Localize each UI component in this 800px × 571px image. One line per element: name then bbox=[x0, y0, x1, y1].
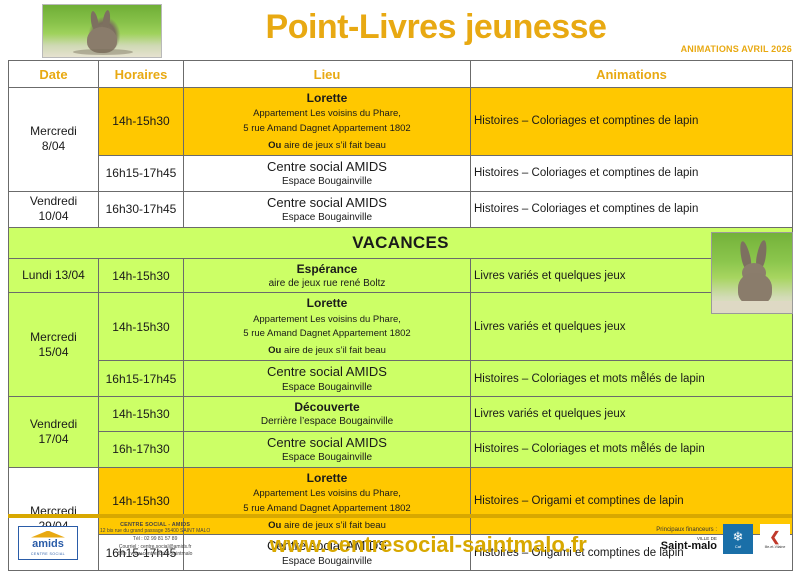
snowflake-icon: ❄ bbox=[733, 530, 744, 543]
lieu-name: Centre social AMIDS bbox=[187, 158, 467, 176]
table-row: Vendredi17/0414h-15h30DécouverteDerrière… bbox=[9, 397, 793, 432]
cell-date: Mercredi8/04 bbox=[9, 88, 99, 192]
vacances-row: VACANCES bbox=[9, 227, 793, 258]
cell-animations: Histoires – Coloriages et comptines de l… bbox=[471, 88, 793, 156]
column-header-animations: Animations bbox=[471, 61, 793, 88]
schedule-body: Mercredi8/0414h-15h30LoretteAppartement … bbox=[9, 88, 793, 571]
lieu-subtitle: Espace Bougainville bbox=[187, 451, 467, 465]
cell-date: Vendredi10/04 bbox=[9, 191, 99, 227]
table-row: Vendredi10/0416h30-17h45Centre social AM… bbox=[9, 191, 793, 227]
rabbit-photo-header bbox=[42, 4, 162, 58]
contact-block: CENTRE SOCIAL - AMIDS 12 bis rue du gran… bbox=[100, 522, 210, 559]
caf-logo: ❄ Caf bbox=[723, 524, 753, 554]
cell-lieu: Centre social AMIDSEspace Bougainville bbox=[184, 361, 471, 397]
column-header-date: Date bbox=[9, 61, 99, 88]
cell-horaires: 16h30-17h45 bbox=[99, 191, 184, 227]
lieu-address-line: Appartement Les voisins du Phare, bbox=[187, 488, 467, 501]
cell-animations: Histoires – Coloriages et comptines de l… bbox=[471, 191, 793, 227]
lieu-name: Lorette bbox=[187, 295, 467, 311]
cell-horaires: 14h-15h30 bbox=[99, 88, 184, 156]
cell-date: Lundi 13/04 bbox=[9, 258, 99, 293]
ille-et-vilaine-mark-icon: ❮ bbox=[770, 530, 781, 543]
cell-lieu: Centre social AMIDSEspace Bougainville bbox=[184, 191, 471, 227]
cell-date: Vendredi17/04 bbox=[9, 397, 99, 468]
table-row: Lundi 13/0414h-15h30Espéranceaire de jeu… bbox=[9, 258, 793, 293]
rabbit-ground bbox=[712, 301, 792, 313]
ille-et-vilaine-label: Ille-et-Vilaine bbox=[765, 545, 786, 549]
caf-label: Caf bbox=[735, 544, 741, 549]
lieu-name: Espérance bbox=[187, 261, 467, 277]
lieu-name: Centre social AMIDS bbox=[187, 363, 467, 381]
site-url-link[interactable]: www.centresocial-saintmalo.fr bbox=[200, 532, 656, 558]
lieu-address-line: 5 rue Amand Dagnet Appartement 1802 bbox=[187, 328, 467, 341]
cell-horaires: 16h-17h30 bbox=[99, 431, 184, 467]
lieu-name: Centre social AMIDS bbox=[187, 194, 467, 212]
table-row: Mercredi8/0414h-15h30LoretteAppartement … bbox=[9, 88, 793, 156]
contact-address: 12 bis rue du grand passage 35400 SAINT … bbox=[100, 528, 210, 536]
cell-lieu: Espéranceaire de jeux rue rené Boltz bbox=[184, 258, 471, 293]
contact-phone: Tél : 02 99 81 57 89 bbox=[100, 536, 210, 544]
cell-horaires: 14h-15h30 bbox=[99, 293, 184, 361]
lieu-subtitle: Espace Bougainville bbox=[187, 381, 467, 395]
cell-lieu: DécouverteDerrière l’espace Bougainville bbox=[184, 397, 471, 432]
ville-saint-malo-logo: Saint-malo bbox=[656, 541, 717, 552]
page-footer: amids CENTRE SOCIAL CENTRE SOCIAL - AMID… bbox=[0, 514, 800, 566]
cell-animations: Histoires – Coloriages et mots mê̂lés de… bbox=[471, 361, 793, 397]
cell-lieu: Centre social AMIDSEspace Bougainville bbox=[184, 155, 471, 191]
financeurs-block: Principaux financeurs : VILLE DE Saint-m… bbox=[656, 524, 790, 554]
lieu-subtitle: aire de jeux rue rené Boltz bbox=[187, 277, 467, 291]
cell-lieu: LoretteAppartement Les voisins du Phare,… bbox=[184, 293, 471, 361]
table-row: Mercredi15/0414h-15h30LoretteAppartement… bbox=[9, 293, 793, 361]
footer-divider bbox=[8, 514, 792, 518]
amids-logo-tagline: CENTRE SOCIAL bbox=[31, 552, 65, 556]
contact-website: Site : www.centresocial-saintmalo bbox=[100, 551, 210, 559]
lieu-name: Lorette bbox=[187, 90, 467, 106]
cell-lieu: Centre social AMIDSEspace Bougainville bbox=[184, 431, 471, 467]
house-roof-icon bbox=[31, 531, 65, 538]
cell-animations: Livres variés et quelques jeux bbox=[471, 397, 793, 432]
lieu-name: Découverte bbox=[187, 399, 467, 415]
cell-animations: Histoires – Coloriages et mots mê̂lés de… bbox=[471, 431, 793, 467]
cell-lieu: LoretteAppartement Les voisins du Phare,… bbox=[184, 88, 471, 156]
cell-date: Mercredi15/04 bbox=[9, 293, 99, 397]
lieu-alternative: Ou aire de jeux s’il fait beau bbox=[187, 345, 467, 358]
contact-email: Courriel : centre.social@amids.fr bbox=[100, 544, 210, 552]
financeurs-label: Principaux financeurs : bbox=[656, 527, 717, 533]
table-row: 16h15-17h45Centre social AMIDSEspace Bou… bbox=[9, 155, 793, 191]
cell-horaires: 16h15-17h45 bbox=[99, 155, 184, 191]
lieu-address-line: 5 rue Amand Dagnet Appartement 1802 bbox=[187, 123, 467, 136]
lieu-subtitle: Espace Bougainville bbox=[187, 211, 467, 225]
vacances-label: VACANCES bbox=[9, 227, 793, 258]
lieu-subtitle: Derrière l’espace Bougainville bbox=[187, 415, 467, 429]
amids-logo: amids CENTRE SOCIAL bbox=[18, 526, 78, 560]
schedule-table: Date Horaires Lieu Animations Mercredi8/… bbox=[8, 60, 793, 571]
page-title: Point-Livres jeunesse bbox=[162, 8, 710, 47]
table-row: 16h15-17h45Centre social AMIDSEspace Bou… bbox=[9, 361, 793, 397]
column-header-horaires: Horaires bbox=[99, 61, 184, 88]
amids-logo-word: amids bbox=[32, 539, 64, 550]
table-row: 16h-17h30Centre social AMIDSEspace Bouga… bbox=[9, 431, 793, 467]
lieu-address-line: Appartement Les voisins du Phare, bbox=[187, 108, 467, 121]
lieu-name: Centre social AMIDS bbox=[187, 434, 467, 452]
rabbit-shadow bbox=[73, 49, 133, 55]
lieu-address-line: Appartement Les voisins du Phare, bbox=[187, 314, 467, 327]
page-header: Point-Livres jeunesse ANIMATIONS AVRIL 2… bbox=[0, 0, 800, 60]
table-header-row: Date Horaires Lieu Animations bbox=[9, 61, 793, 88]
lieu-name: Lorette bbox=[187, 470, 467, 486]
cell-horaires: 14h-15h30 bbox=[99, 258, 184, 293]
cell-horaires: 16h15-17h45 bbox=[99, 361, 184, 397]
ille-et-vilaine-logo: ❮ Ille-et-Vilaine bbox=[760, 524, 790, 554]
lieu-subtitle: Espace Bougainville bbox=[187, 175, 467, 189]
rabbit-photo-table bbox=[711, 232, 793, 314]
cell-horaires: 14h-15h30 bbox=[99, 397, 184, 432]
cell-animations: Histoires – Coloriages et comptines de l… bbox=[471, 155, 793, 191]
lieu-alternative: Ou aire de jeux s’il fait beau bbox=[187, 140, 467, 153]
page-subtitle: ANIMATIONS AVRIL 2026 bbox=[681, 44, 792, 54]
column-header-lieu: Lieu bbox=[184, 61, 471, 88]
